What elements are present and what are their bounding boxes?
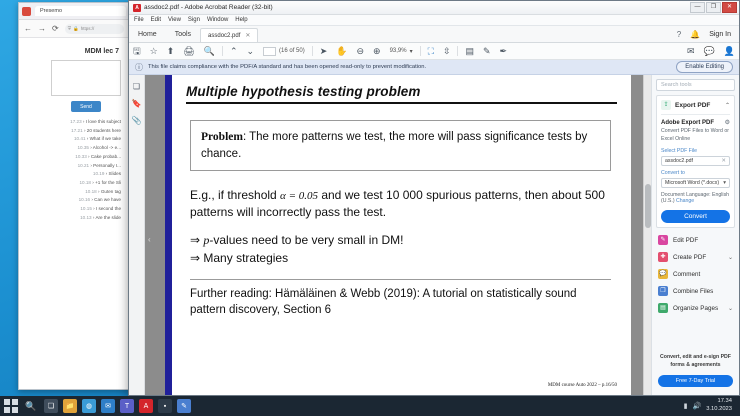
example-paragraph: E.g., if threshold α = 0.05 and we test … xyxy=(190,187,613,220)
previous-page-icon[interactable]: ⌃ xyxy=(230,47,238,56)
gear-icon[interactable]: ⚙ xyxy=(725,119,730,126)
export-pdf-header[interactable]: ⇪ Export PDF ⌃ xyxy=(661,100,730,115)
zoom-level-value: 93,9% xyxy=(390,48,407,54)
list-item: 10.16 › Can we have xyxy=(27,196,123,205)
further-reading-text: Further reading: Hämäläinen & Webb (2019… xyxy=(190,287,613,318)
export-subtitle: Convert PDF Files to Word or Excel Onlin… xyxy=(661,128,730,144)
zoom-level-select[interactable]: 93,9% ▾ xyxy=(390,48,413,55)
list-item: 17.23 › I love this subject xyxy=(27,118,123,127)
tab-tools[interactable]: Tools xyxy=(166,26,200,42)
export-pdf-icon: ⇪ xyxy=(661,100,671,110)
tool-label: Combine Files xyxy=(673,288,713,295)
convert-to-select[interactable]: Microsoft Word (*.docx) ▾ xyxy=(661,178,730,188)
browser-url-bar[interactable]: ⛨ 🔒 https:// xyxy=(65,24,124,34)
select-tool-icon[interactable]: ➤ xyxy=(320,47,328,56)
further-reading-rule xyxy=(190,279,611,280)
search-icon[interactable]: 🔍 xyxy=(204,47,215,56)
message-text: What if we take xyxy=(90,136,121,141)
comment-icon: 💬 xyxy=(658,269,668,279)
toolbar-annot-group[interactable]: ▤ ✎ ✒ xyxy=(465,47,507,56)
export-pdf-label: Export PDF xyxy=(675,102,721,109)
message-time: 17.21 xyxy=(71,128,83,133)
hand-tool-icon[interactable]: ✋ xyxy=(336,47,347,56)
tool-comment[interactable]: 💬 Comment xyxy=(656,266,735,283)
start-button-icon[interactable] xyxy=(4,399,18,413)
list-item: 10.15 › I second the xyxy=(27,205,123,214)
list-item: 17.21 › 20 students here xyxy=(27,127,123,136)
message-time: 10.15 xyxy=(80,206,92,211)
toolbar-right-group[interactable]: ✉ 💬 👤 xyxy=(687,47,735,56)
left-navigation-rail[interactable]: ❏ 🔖 📎 xyxy=(129,75,145,395)
tab-bar[interactable]: Home Tools assdoc2.pdf ✕ ? 🔔 Sign In xyxy=(129,26,739,43)
title-bar[interactable]: A assdoc2.pdf - Adobe Acrobat Reader (32… xyxy=(129,1,739,15)
tab-document-label: assdoc2.pdf xyxy=(208,33,240,39)
selected-file-value: assdoc2.pdf xyxy=(665,158,693,164)
tools-list[interactable]: ✎ Edit PDF ✚ Create PDF ⌄ 💬 Comment ❐ Co… xyxy=(656,232,735,317)
taskbar-app-icons[interactable]: ❏ 📁 ◍ ✉ T A ▪ ✎ xyxy=(44,399,191,413)
window-controls[interactable]: — ❐ ✕ xyxy=(690,2,737,13)
page-nav-icon[interactable]: ‹ xyxy=(148,235,151,244)
sign-in-button[interactable]: Sign In xyxy=(709,31,731,38)
chevron-down-icon[interactable]: ▾ xyxy=(410,48,413,55)
toolbar-page-group[interactable]: ⌃ ⌄ (16 of 50) xyxy=(230,47,305,56)
tool-label: Organize Pages xyxy=(673,305,718,312)
message-text: 20 students here xyxy=(87,128,121,133)
document-toolbar[interactable]: 🖫 ☆ ⬆ 🖨 🔍 ⌃ ⌄ (16 of 50) ➤ ✋ ⊖ ⊕ 93,9% ▾ xyxy=(129,43,739,60)
page-number-input[interactable] xyxy=(263,47,276,56)
problem-label: Problem xyxy=(201,131,243,143)
page-scrollbar-thumb[interactable] xyxy=(645,184,651,228)
close-button[interactable]: ✕ xyxy=(722,2,737,13)
tool-label: Comment xyxy=(673,271,700,278)
pdfa-notice-bar: ⓘ This file claims compliance with the P… xyxy=(129,60,739,75)
adobe-export-pdf-title: Adobe Export PDF xyxy=(661,120,714,126)
help-icon[interactable]: ? xyxy=(677,30,681,39)
browser-nav-bar: ← → ⟳ ⛨ 🔒 https:// xyxy=(19,20,129,38)
example-text-a: E.g., if threshold xyxy=(190,188,280,202)
sign-icon[interactable]: ✒ xyxy=(500,47,508,56)
edit-pdf-icon: ✎ xyxy=(658,235,668,245)
change-language-link[interactable]: Change xyxy=(676,198,694,204)
message-time: 10.19 xyxy=(93,171,105,176)
menu-file[interactable]: File xyxy=(134,17,144,23)
toolbar-left-group[interactable]: 🖫 ☆ ⬆ 🖨 🔍 xyxy=(133,47,215,56)
editor-icon[interactable]: ✎ xyxy=(177,399,191,413)
browser-tab-strip: Presemo xyxy=(19,3,129,20)
tool-combine-files[interactable]: ❐ Combine Files xyxy=(656,283,735,300)
system-tray[interactable]: ▮ 🔊 17.34 3.10.2023 xyxy=(684,398,736,414)
alpha-value: α = 0.05 xyxy=(280,190,318,202)
mail-icon[interactable]: ✉ xyxy=(101,399,115,413)
arrow-1-pre: ⇒ xyxy=(190,233,203,247)
fit-page-icon[interactable]: ⛶ xyxy=(428,47,434,56)
taskbar-search-icon[interactable]: 🔍 xyxy=(24,399,38,413)
browser-tab-presemo[interactable]: Presemo xyxy=(35,6,126,16)
message-text: I love this subject xyxy=(86,119,121,124)
message-text: Guten tag xyxy=(101,189,121,194)
document-language: Document Language: English (U.S.) Change xyxy=(661,192,730,204)
maximize-button[interactable]: ❐ xyxy=(706,2,721,13)
url-text: https:// xyxy=(81,26,95,31)
menu-help[interactable]: Help xyxy=(235,17,247,23)
notice-text: This file claims compliance with the PDF… xyxy=(148,64,671,70)
menu-edit[interactable]: Edit xyxy=(151,17,161,23)
list-item: 10.21 › Personally I... xyxy=(27,162,123,171)
tool-create-pdf[interactable]: ✚ Create PDF ⌄ xyxy=(656,249,735,266)
next-page-icon[interactable]: ⌄ xyxy=(247,47,255,56)
file-explorer-icon[interactable]: 📁 xyxy=(63,399,77,413)
chevron-down-icon[interactable]: ▾ xyxy=(723,180,726,186)
acrobat-logo-icon: A xyxy=(133,4,141,12)
page-count-label: (16 of 50) xyxy=(279,48,305,54)
problem-statement: Problem: The more patterns we test, the … xyxy=(201,129,600,162)
network-icon[interactable]: ▮ xyxy=(684,402,688,410)
trial-promo[interactable]: Convert, edit and e-sign PDF forms & agr… xyxy=(656,350,735,391)
back-icon[interactable]: ← xyxy=(24,24,32,33)
pdf-page-area[interactable]: ‹ Multiple hypothesis testing problem Pr… xyxy=(145,75,651,395)
task-view-icon[interactable]: ❏ xyxy=(44,399,58,413)
page-thumbnails-icon[interactable]: ❏ xyxy=(133,82,140,91)
toolbar-view-group[interactable]: ⛶ ⇳ xyxy=(428,47,451,56)
create-pdf-icon: ✚ xyxy=(658,252,668,262)
conclusion-line-2: ⇒ Many strategies xyxy=(190,250,613,267)
toolbar-separator xyxy=(312,46,313,56)
chevron-down-icon[interactable]: ⌄ xyxy=(728,254,733,261)
convert-button[interactable]: Convert xyxy=(661,210,730,223)
message-text: I second the xyxy=(96,206,121,211)
clock-time: 17.34 xyxy=(706,398,732,406)
message-time: 10.21 xyxy=(78,163,90,168)
lock-icon: 🔒 xyxy=(73,26,79,32)
zoom-in-icon[interactable]: ⊕ xyxy=(373,47,381,56)
clock-date: 3.10.2023 xyxy=(706,406,732,414)
chevron-up-icon[interactable]: ⌃ xyxy=(725,102,730,109)
tools-side-panel[interactable]: Search tools ⇪ Export PDF ⌃ Adobe Export… xyxy=(651,75,739,395)
page-number-box[interactable]: (16 of 50) xyxy=(263,47,305,56)
export-pdf-card[interactable]: ⇪ Export PDF ⌃ Adobe Export PDF ⚙ Conver… xyxy=(656,95,735,228)
menu-window[interactable]: Window xyxy=(207,17,228,23)
bell-icon[interactable]: 🔔 xyxy=(690,30,700,39)
problem-text: : The more patterns we test, the more wi… xyxy=(201,131,587,160)
select-pdf-file-label: Select PDF File xyxy=(661,148,730,154)
document-language-text: Document Language: English (U.S.) xyxy=(661,192,729,204)
read-mode-icon[interactable]: ▤ xyxy=(465,47,474,56)
menu-sign[interactable]: Sign xyxy=(188,17,200,23)
browser-page-content: MDM lec 7 Send 17.23 › I love this subje… xyxy=(19,38,129,227)
title-rule xyxy=(186,102,617,104)
message-text: Are the slide xyxy=(95,215,121,220)
message-time: 10.16 xyxy=(79,197,91,202)
list-item: 10.41 › What if we take xyxy=(27,135,123,144)
taskbar-clock[interactable]: 17.34 3.10.2023 xyxy=(706,398,732,414)
list-item: 10.19 › Slides xyxy=(27,170,123,179)
message-text: Can we have xyxy=(94,197,121,202)
tool-label: Edit PDF xyxy=(673,237,698,244)
browser-icon[interactable]: ◍ xyxy=(82,399,96,413)
presemo-message-input[interactable] xyxy=(51,60,121,96)
star-icon[interactable]: ☆ xyxy=(150,47,158,56)
message-time: 10.18 xyxy=(79,180,91,185)
tool-organize-pages[interactable]: ▤ Organize Pages ⌄ xyxy=(656,300,735,317)
list-item: 10.13 › Are the slide xyxy=(27,214,123,223)
clear-file-icon[interactable]: ✕ xyxy=(721,158,726,164)
teams-icon[interactable]: T xyxy=(120,399,134,413)
list-item: 10.18 › Guten tag xyxy=(27,188,123,197)
conclusion-lines: ⇒ p-values need to be very small in DM! … xyxy=(190,232,613,267)
forward-icon[interactable]: → xyxy=(38,24,46,33)
message-time: 10.18 xyxy=(85,189,97,194)
reload-icon[interactable]: ⟳ xyxy=(52,24,59,33)
tab-home[interactable]: Home xyxy=(129,26,166,42)
background-browser-window[interactable]: Presemo ← → ⟳ ⛨ 🔒 https:// MDM lec 7 Sen… xyxy=(18,2,130,390)
page-scrollbar[interactable] xyxy=(643,75,651,395)
message-time: 10.41 xyxy=(74,136,86,141)
tab-bar-right[interactable]: ? 🔔 Sign In xyxy=(677,26,739,42)
pdf-slide: Multiple hypothesis testing problem Prob… xyxy=(165,75,631,395)
browser-favicon xyxy=(22,7,31,16)
conclusion-line-1: ⇒ p-values need to be very small in DM! xyxy=(190,232,613,249)
share-icon[interactable]: ✉ xyxy=(687,47,695,56)
message-text: +1 for the Sli xyxy=(95,180,121,185)
attachments-icon[interactable]: 📎 xyxy=(132,116,142,125)
problem-box: Problem: The more patterns we test, the … xyxy=(190,120,611,171)
arrow-1-post: -values need to be very small in DM! xyxy=(209,233,403,247)
send-button[interactable]: Send xyxy=(71,101,101,112)
tab-bar-spacer xyxy=(258,26,676,42)
message-text: Personally I... xyxy=(93,163,121,168)
search-tools-input[interactable]: Search tools xyxy=(656,79,735,91)
acrobat-reader-window[interactable]: A assdoc2.pdf - Adobe Acrobat Reader (32… xyxy=(128,0,740,396)
menu-view[interactable]: View xyxy=(168,17,181,23)
message-time: 10.13 xyxy=(80,215,92,220)
menu-bar[interactable]: File Edit View Sign Window Help xyxy=(129,15,739,26)
toolbar-separator xyxy=(222,46,223,56)
message-time: 10.35 xyxy=(77,145,89,150)
fit-width-icon[interactable]: ⇳ xyxy=(443,47,451,56)
organize-pages-icon: ▤ xyxy=(658,303,668,313)
message-time: 17.23 xyxy=(70,119,82,124)
windows-taskbar[interactable]: 🔍 ❏ 📁 ◍ ✉ T A ▪ ✎ ▮ 🔊 17.34 3.10.2023 xyxy=(0,396,740,416)
message-text: Slides xyxy=(108,171,121,176)
close-icon[interactable]: ✕ xyxy=(245,32,250,39)
message-text: Cake probab... xyxy=(91,154,121,159)
save-icon[interactable]: 🖫 xyxy=(133,47,141,56)
minimize-button[interactable]: — xyxy=(690,2,705,13)
adobe-export-pdf-heading: Adobe Export PDF ⚙ xyxy=(661,119,730,126)
zoom-out-icon[interactable]: ⊖ xyxy=(357,47,365,56)
bookmarks-icon[interactable]: 🔖 xyxy=(132,99,142,108)
slide-footer: MDM course Auto 2022 – p.16/50 xyxy=(548,383,617,388)
toolbar-zoom-group[interactable]: ➤ ✋ ⊖ ⊕ 93,9% ▾ xyxy=(320,47,413,56)
tool-edit-pdf[interactable]: ✎ Edit PDF xyxy=(656,232,735,249)
combine-files-icon: ❐ xyxy=(658,286,668,296)
print-icon[interactable]: 🖨 xyxy=(183,47,194,56)
presemo-message-list: 17.23 › I love this subject 17.21 › 20 s… xyxy=(25,118,123,223)
info-icon: ⓘ xyxy=(135,62,143,73)
convert-to-label: Convert to xyxy=(661,170,730,176)
acrobat-taskbar-icon[interactable]: A xyxy=(139,399,153,413)
terminal-icon[interactable]: ▪ xyxy=(158,399,172,413)
list-item: 10.18 › +1 for the Sli xyxy=(27,179,123,188)
shield-icon: ⛨ xyxy=(68,26,71,31)
tab-document[interactable]: assdoc2.pdf ✕ xyxy=(200,28,258,42)
speaker-icon[interactable]: 🔊 xyxy=(692,402,701,410)
message-time: 10.33 xyxy=(75,154,87,159)
presemo-heading: MDM lec 7 xyxy=(25,48,123,55)
upload-icon[interactable]: ⬆ xyxy=(167,47,175,56)
window-title: assdoc2.pdf - Adobe Acrobat Reader (32-b… xyxy=(144,4,273,11)
toolbar-separator xyxy=(420,46,421,56)
list-item: 10.33 › Cake probab... xyxy=(27,153,123,162)
highlight-icon[interactable]: ✎ xyxy=(483,47,491,56)
tool-label: Create PDF xyxy=(673,254,706,261)
acrobat-body: ❏ 🔖 📎 ‹ Multiple hypothesis testing prob… xyxy=(129,75,739,395)
slide-title: Multiple hypothesis testing problem xyxy=(186,84,617,102)
person-icon[interactable]: 👤 xyxy=(724,47,735,56)
enable-editing-button[interactable]: Enable Editing xyxy=(676,61,733,73)
list-item: 10.35 › Alcohol -> e... xyxy=(27,144,123,153)
chevron-down-icon[interactable]: ⌄ xyxy=(728,305,733,312)
convert-to-value: Microsoft Word (*.docx) xyxy=(665,180,719,186)
message-text: Alcohol -> e... xyxy=(93,145,121,150)
comment-icon[interactable]: 💬 xyxy=(704,47,715,56)
free-trial-button[interactable]: Free 7-Day Trial xyxy=(658,375,733,387)
promo-text: Convert, edit and e-sign PDF forms & agr… xyxy=(658,354,733,370)
toolbar-separator xyxy=(457,46,458,56)
selected-file-field[interactable]: assdoc2.pdf ✕ xyxy=(661,156,730,166)
